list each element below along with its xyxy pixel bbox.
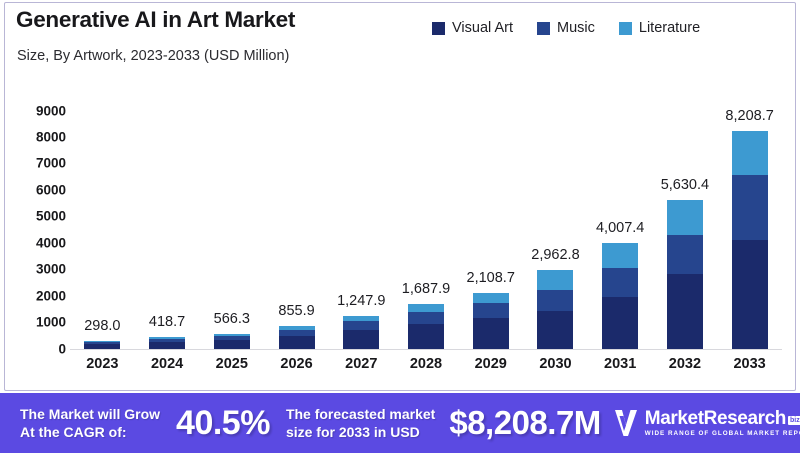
bar-value-label: 4,007.4 [596, 220, 644, 236]
bar-value-label: 298.0 [84, 318, 120, 334]
checkmark-shield-icon [613, 408, 639, 438]
x-axis-tick-label: 2033 [733, 356, 765, 372]
infographic-root: Generative AI in Art Market Size, By Art… [0, 0, 800, 453]
logo-name: MarketResearch [645, 409, 786, 428]
bar-segment-visual-art[interactable] [214, 340, 250, 348]
y-axis-tick-label: 4000 [36, 235, 66, 250]
bar-group-2024[interactable] [149, 337, 185, 348]
x-axis-tick-label: 2026 [280, 356, 312, 372]
forecast-value: $8,208.7M [449, 404, 600, 442]
y-axis-tick-label: 9000 [36, 103, 66, 118]
y-axis-tick-label: 6000 [36, 182, 66, 197]
bar-segment-visual-art[interactable] [602, 297, 638, 349]
bar-value-label: 418.7 [149, 314, 185, 330]
x-axis-tick-label: 2032 [669, 356, 701, 372]
forecast-label: The forecasted market size for 2033 in U… [286, 405, 435, 442]
bar-segment-music[interactable] [343, 321, 379, 330]
bar-segment-visual-art[interactable] [473, 318, 509, 349]
bar-segment-visual-art[interactable] [667, 274, 703, 348]
chart-subtitle: Size, By Artwork, 2023-2033 (USD Million… [17, 48, 289, 64]
y-axis-tick-label: 1000 [36, 315, 66, 330]
bar-segment-literature[interactable] [602, 243, 638, 268]
y-axis-tick-label: 3000 [36, 262, 66, 277]
cagr-label-line1: The Market will Grow [20, 406, 160, 422]
bar-segment-visual-art[interactable] [537, 311, 573, 349]
legend-swatch-icon [619, 22, 632, 35]
logo-badge: biz [788, 416, 800, 425]
forecast-label-line1: The forecasted market [286, 406, 435, 422]
bar-group-2025[interactable] [214, 334, 250, 349]
bar-segment-visual-art[interactable] [279, 336, 315, 348]
bar-segment-music[interactable] [732, 175, 768, 240]
y-axis-tick-label: 0 [58, 341, 66, 356]
bar-value-label: 2,108.7 [467, 270, 515, 286]
page-title: Generative AI in Art Market [16, 7, 295, 33]
bar-group-2028[interactable] [408, 304, 444, 349]
bar-group-2031[interactable] [602, 243, 638, 349]
cagr-value: 40.5% [176, 404, 270, 443]
cagr-label: The Market will Grow At the CAGR of: [20, 405, 160, 442]
marketresearch-logo[interactable]: MarketResearch biz WIDE RANGE OF GLOBAL … [613, 408, 800, 438]
bar-segment-music[interactable] [473, 303, 509, 318]
legend-item-visual-art[interactable]: Visual Art [432, 20, 513, 36]
bar-group-2023[interactable] [84, 341, 120, 349]
bar-group-2027[interactable] [343, 316, 379, 349]
x-axis-tick-label: 2030 [539, 356, 571, 372]
bar-group-2029[interactable] [473, 293, 509, 349]
logo-tagline: WIDE RANGE OF GLOBAL MARKET REPORTS [645, 431, 800, 437]
legend-item-literature[interactable]: Literature [619, 20, 700, 36]
bar-segment-literature[interactable] [473, 293, 509, 303]
x-axis-tick-label: 2025 [216, 356, 248, 372]
forecast-label-line2: size for 2033 in USD [286, 424, 420, 440]
bar-group-2030[interactable] [537, 270, 573, 348]
bar-group-2033[interactable] [732, 131, 768, 348]
x-axis-tick-label: 2029 [475, 356, 507, 372]
legend-swatch-icon [432, 22, 445, 35]
bar-segment-literature[interactable] [667, 200, 703, 236]
bar-segment-literature[interactable] [537, 270, 573, 290]
bar-group-2026[interactable] [279, 326, 315, 349]
bar-value-label: 8,208.7 [725, 108, 773, 124]
legend-label: Visual Art [452, 20, 513, 36]
bar-segment-visual-art[interactable] [408, 324, 444, 349]
bar-value-label: 1,687.9 [402, 281, 450, 297]
bar-segment-literature[interactable] [732, 131, 768, 174]
bar-segment-music[interactable] [408, 312, 444, 324]
bar-segment-music[interactable] [667, 235, 703, 274]
y-axis: 9000800070006000500040003000200010000 [8, 100, 66, 350]
x-axis-tick-label: 2031 [604, 356, 636, 372]
bar-group-2032[interactable] [667, 200, 703, 349]
bar-value-label: 855.9 [278, 303, 314, 319]
bar-segment-music[interactable] [602, 268, 638, 297]
bar-value-label: 1,247.9 [337, 293, 385, 309]
bar-value-label: 566.3 [214, 311, 250, 327]
logo-name-row: MarketResearch biz [645, 409, 800, 428]
legend-item-music[interactable]: Music [537, 20, 595, 36]
cagr-label-line2: At the CAGR of: [20, 424, 127, 440]
bar-segment-literature[interactable] [408, 304, 444, 312]
bar-value-label: 5,630.4 [661, 177, 709, 193]
x-axis-tick-label: 2024 [151, 356, 183, 372]
y-axis-tick-label: 5000 [36, 209, 66, 224]
bar-segment-music[interactable] [537, 290, 573, 311]
legend-swatch-icon [537, 22, 550, 35]
logo-text: MarketResearch biz WIDE RANGE OF GLOBAL … [645, 409, 800, 437]
summary-banner: The Market will Grow At the CAGR of: 40.… [0, 393, 800, 453]
bar-value-label: 2,962.8 [531, 247, 579, 263]
legend-label: Literature [639, 20, 700, 36]
x-axis-tick-label: 2028 [410, 356, 442, 372]
legend-label: Music [557, 20, 595, 36]
x-axis-tick-label: 2027 [345, 356, 377, 372]
x-axis: 2023202420252026202720282029203020312032… [70, 353, 782, 379]
chart-legend: Visual ArtMusicLiterature [432, 20, 700, 36]
x-axis-tick-label: 2023 [86, 356, 118, 372]
plot-area: 298.0418.7566.3855.91,247.91,687.92,108.… [70, 100, 782, 350]
bar-segment-visual-art[interactable] [732, 240, 768, 349]
bar-segment-visual-art[interactable] [343, 330, 379, 348]
y-axis-tick-label: 2000 [36, 288, 66, 303]
bar-series-container: 298.0418.7566.3855.91,247.91,687.92,108.… [70, 100, 782, 350]
y-axis-tick-label: 8000 [36, 129, 66, 144]
y-axis-tick-label: 7000 [36, 156, 66, 171]
x-axis-baseline [70, 349, 782, 351]
